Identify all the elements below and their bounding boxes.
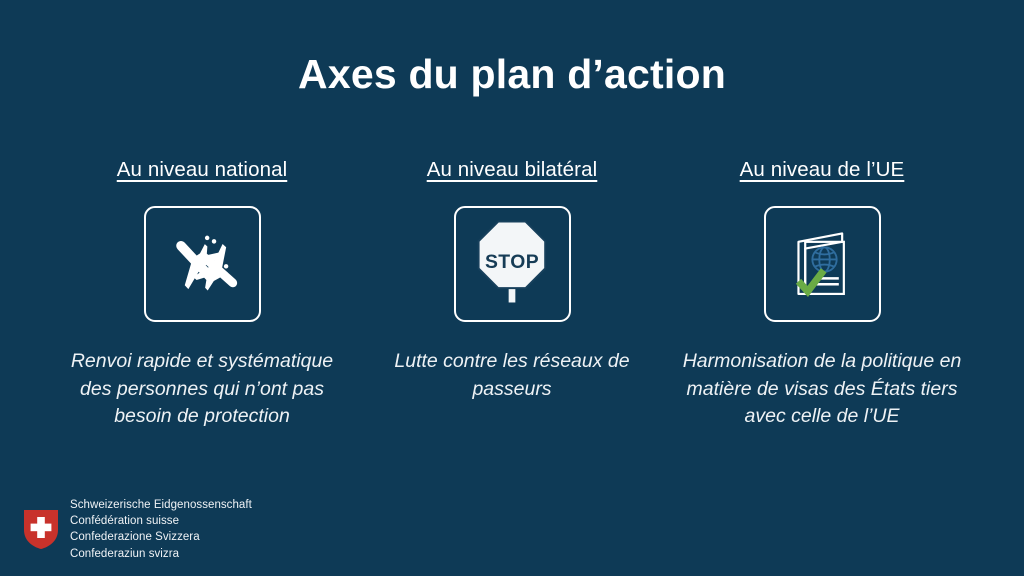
footer-line-fr: Confédération suisse [70,513,252,529]
column-bilateral: Au niveau bilatéral STOP Lutte contre le… [362,158,662,403]
slide-root: Axes du plan d’action Au niveau national [0,0,1024,576]
column-caption-eu: Harmonisation de la politique en matière… [676,348,968,431]
stop-sign-label: STOP [485,251,539,273]
icon-frame-eu [764,206,881,322]
footer-text-block: Schweizerische Eidgenossenschaft Confédé… [70,497,252,562]
swiss-confederation-shield [22,508,60,550]
stop-sign-icon: STOP [468,218,556,311]
column-eu: Au niveau de l’UE [672,158,972,431]
airplane-departures-icon [159,219,245,310]
column-caption-bilateral: Lutte contre les réseaux de passeurs [388,348,636,403]
footer-line-it: Confederazione Svizzera [70,529,252,545]
footer-line-rm: Confederaziun svizra [70,546,252,562]
footer-logo: Schweizerische Eidgenossenschaft Confédé… [22,497,252,562]
icon-frame-bilateral: STOP [454,206,571,322]
page-title: Axes du plan d’action [0,52,1024,97]
footer-line-de: Schweizerische Eidgenossenschaft [70,497,252,513]
icon-frame-national [144,206,261,322]
column-national: Au niveau national [52,158,352,431]
passport-visa-check-icon [780,220,864,309]
column-heading-eu: Au niveau de l’UE [740,158,905,182]
column-heading-bilateral: Au niveau bilatéral [427,158,598,182]
column-heading-national: Au niveau national [117,158,288,182]
column-caption-national: Renvoi rapide et systématique des person… [56,348,348,431]
columns-container: Au niveau national [52,158,972,431]
